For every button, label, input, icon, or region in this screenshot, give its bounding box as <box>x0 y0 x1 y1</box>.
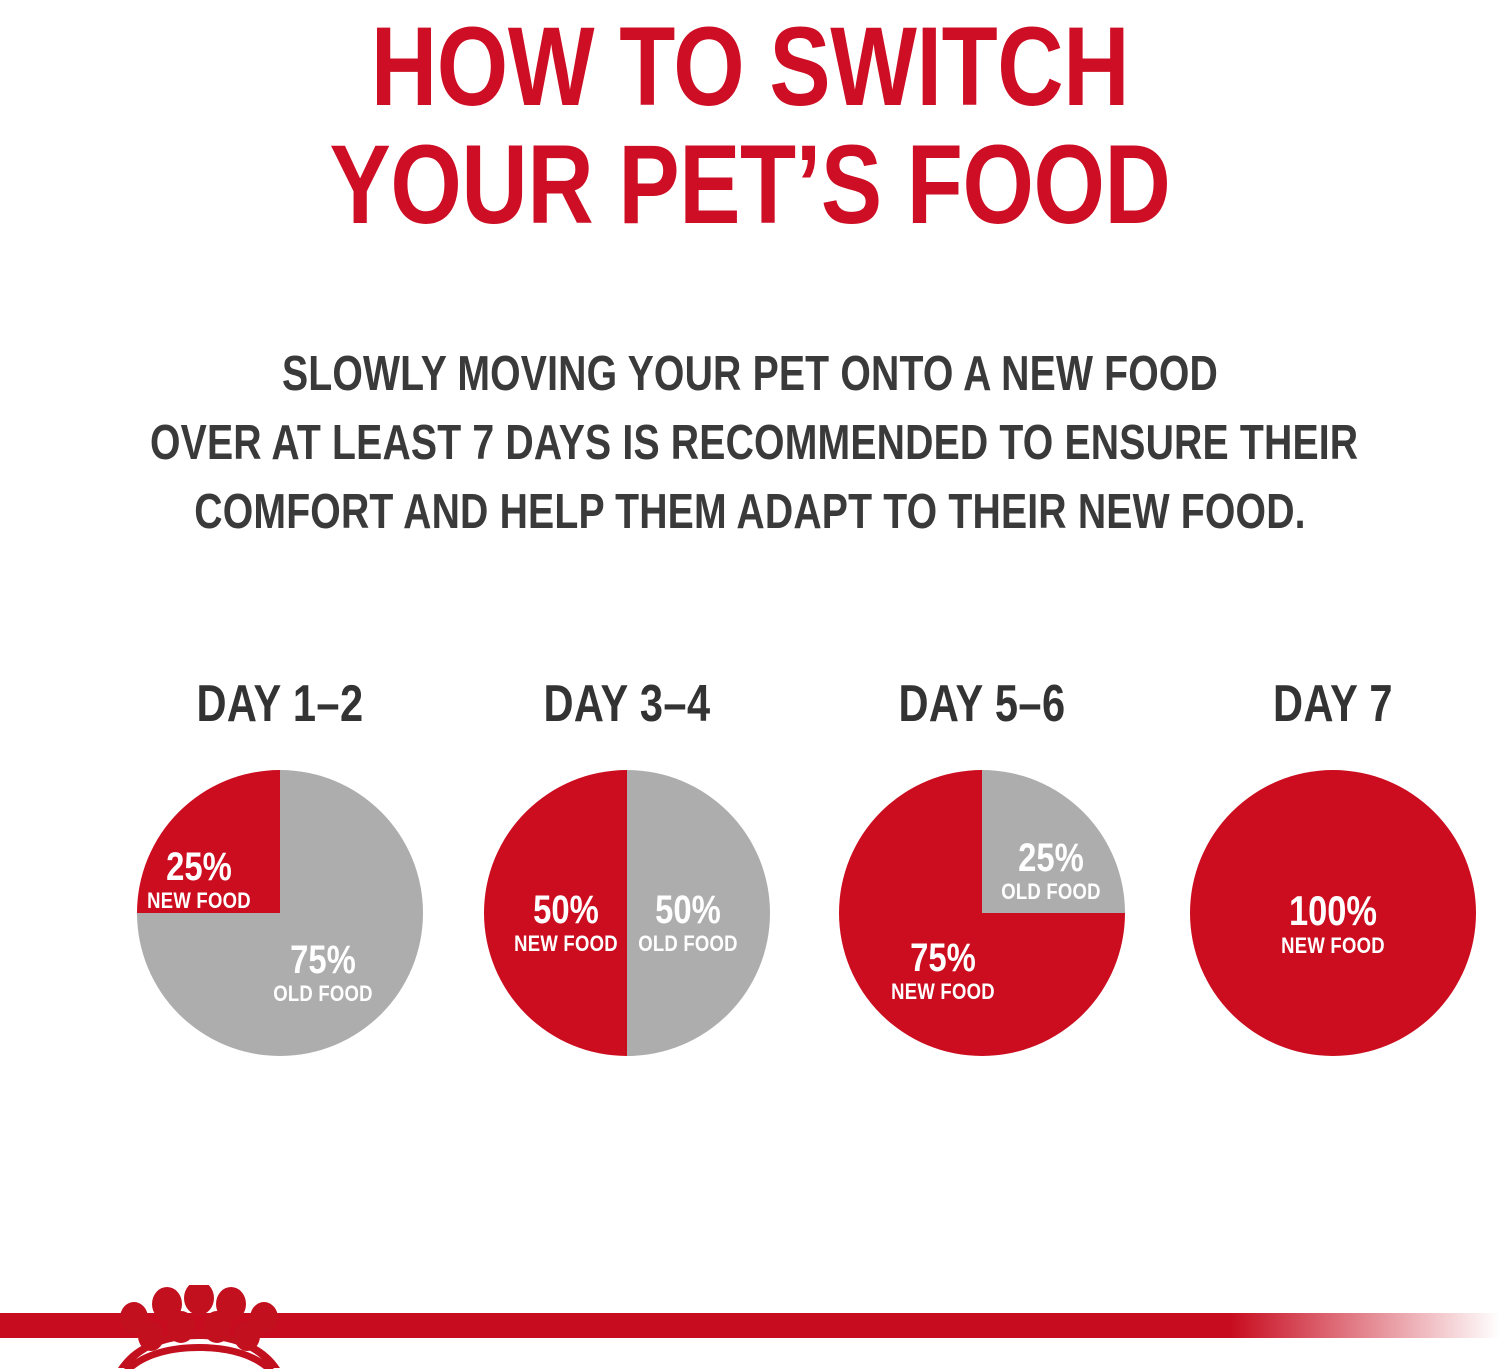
page-title: HOW TO SWITCH YOUR PET’S FOOD <box>135 8 1365 244</box>
day-label: DAY 1–2 <box>160 676 400 732</box>
pie-chart-group-1: DAY 1–225%NEW FOOD75%OLD FOOD <box>130 676 430 1096</box>
pie-chart: 25%NEW FOOD75%OLD FOOD <box>137 770 423 1056</box>
pie-chart-group-3: DAY 5–625%OLD FOOD75%NEW FOOD <box>832 676 1132 1096</box>
day-label: DAY 7 <box>1213 676 1453 732</box>
pie-slice-new-food <box>1190 770 1476 1056</box>
page-title-line-1: HOW TO SWITCH <box>135 8 1365 126</box>
pie-chart: 100%NEW FOOD <box>1190 770 1476 1056</box>
pie-slice-old-food <box>627 770 770 1056</box>
pie-slice-new-food <box>137 770 280 913</box>
day-label: DAY 3–4 <box>507 676 747 732</box>
pie-chart-group-4: DAY 7100%NEW FOOD <box>1183 676 1483 1096</box>
feeding-transition-chart-row: DAY 1–225%NEW FOOD75%OLD FOODDAY 3–450%N… <box>0 676 1500 1096</box>
pie-chart: 50%NEW FOOD50%OLD FOOD <box>484 770 770 1056</box>
royal-canin-crown-logo-icon <box>104 1285 294 1369</box>
intro-paragraph: SLOWLY MOVING YOUR PET ONTO A NEW FOOD O… <box>150 340 1350 547</box>
intro-paragraph-line-1: SLOWLY MOVING YOUR PET ONTO A NEW FOOD <box>150 340 1350 409</box>
footer <box>0 1311 1500 1369</box>
intro-paragraph-line-3: COMFORT AND HELP THEM ADAPT TO THEIR NEW… <box>150 478 1350 547</box>
pie-slice-old-food <box>982 770 1125 913</box>
pie-chart: 25%OLD FOOD75%NEW FOOD <box>839 770 1125 1056</box>
intro-paragraph-line-2: OVER AT LEAST 7 DAYS IS RECOMMENDED TO E… <box>150 409 1350 478</box>
pie-slice-new-food <box>484 770 627 1056</box>
pie-chart-group-2: DAY 3–450%NEW FOOD50%OLD FOOD <box>477 676 777 1096</box>
day-label: DAY 5–6 <box>862 676 1102 732</box>
page-title-line-2: YOUR PET’S FOOD <box>135 126 1365 244</box>
